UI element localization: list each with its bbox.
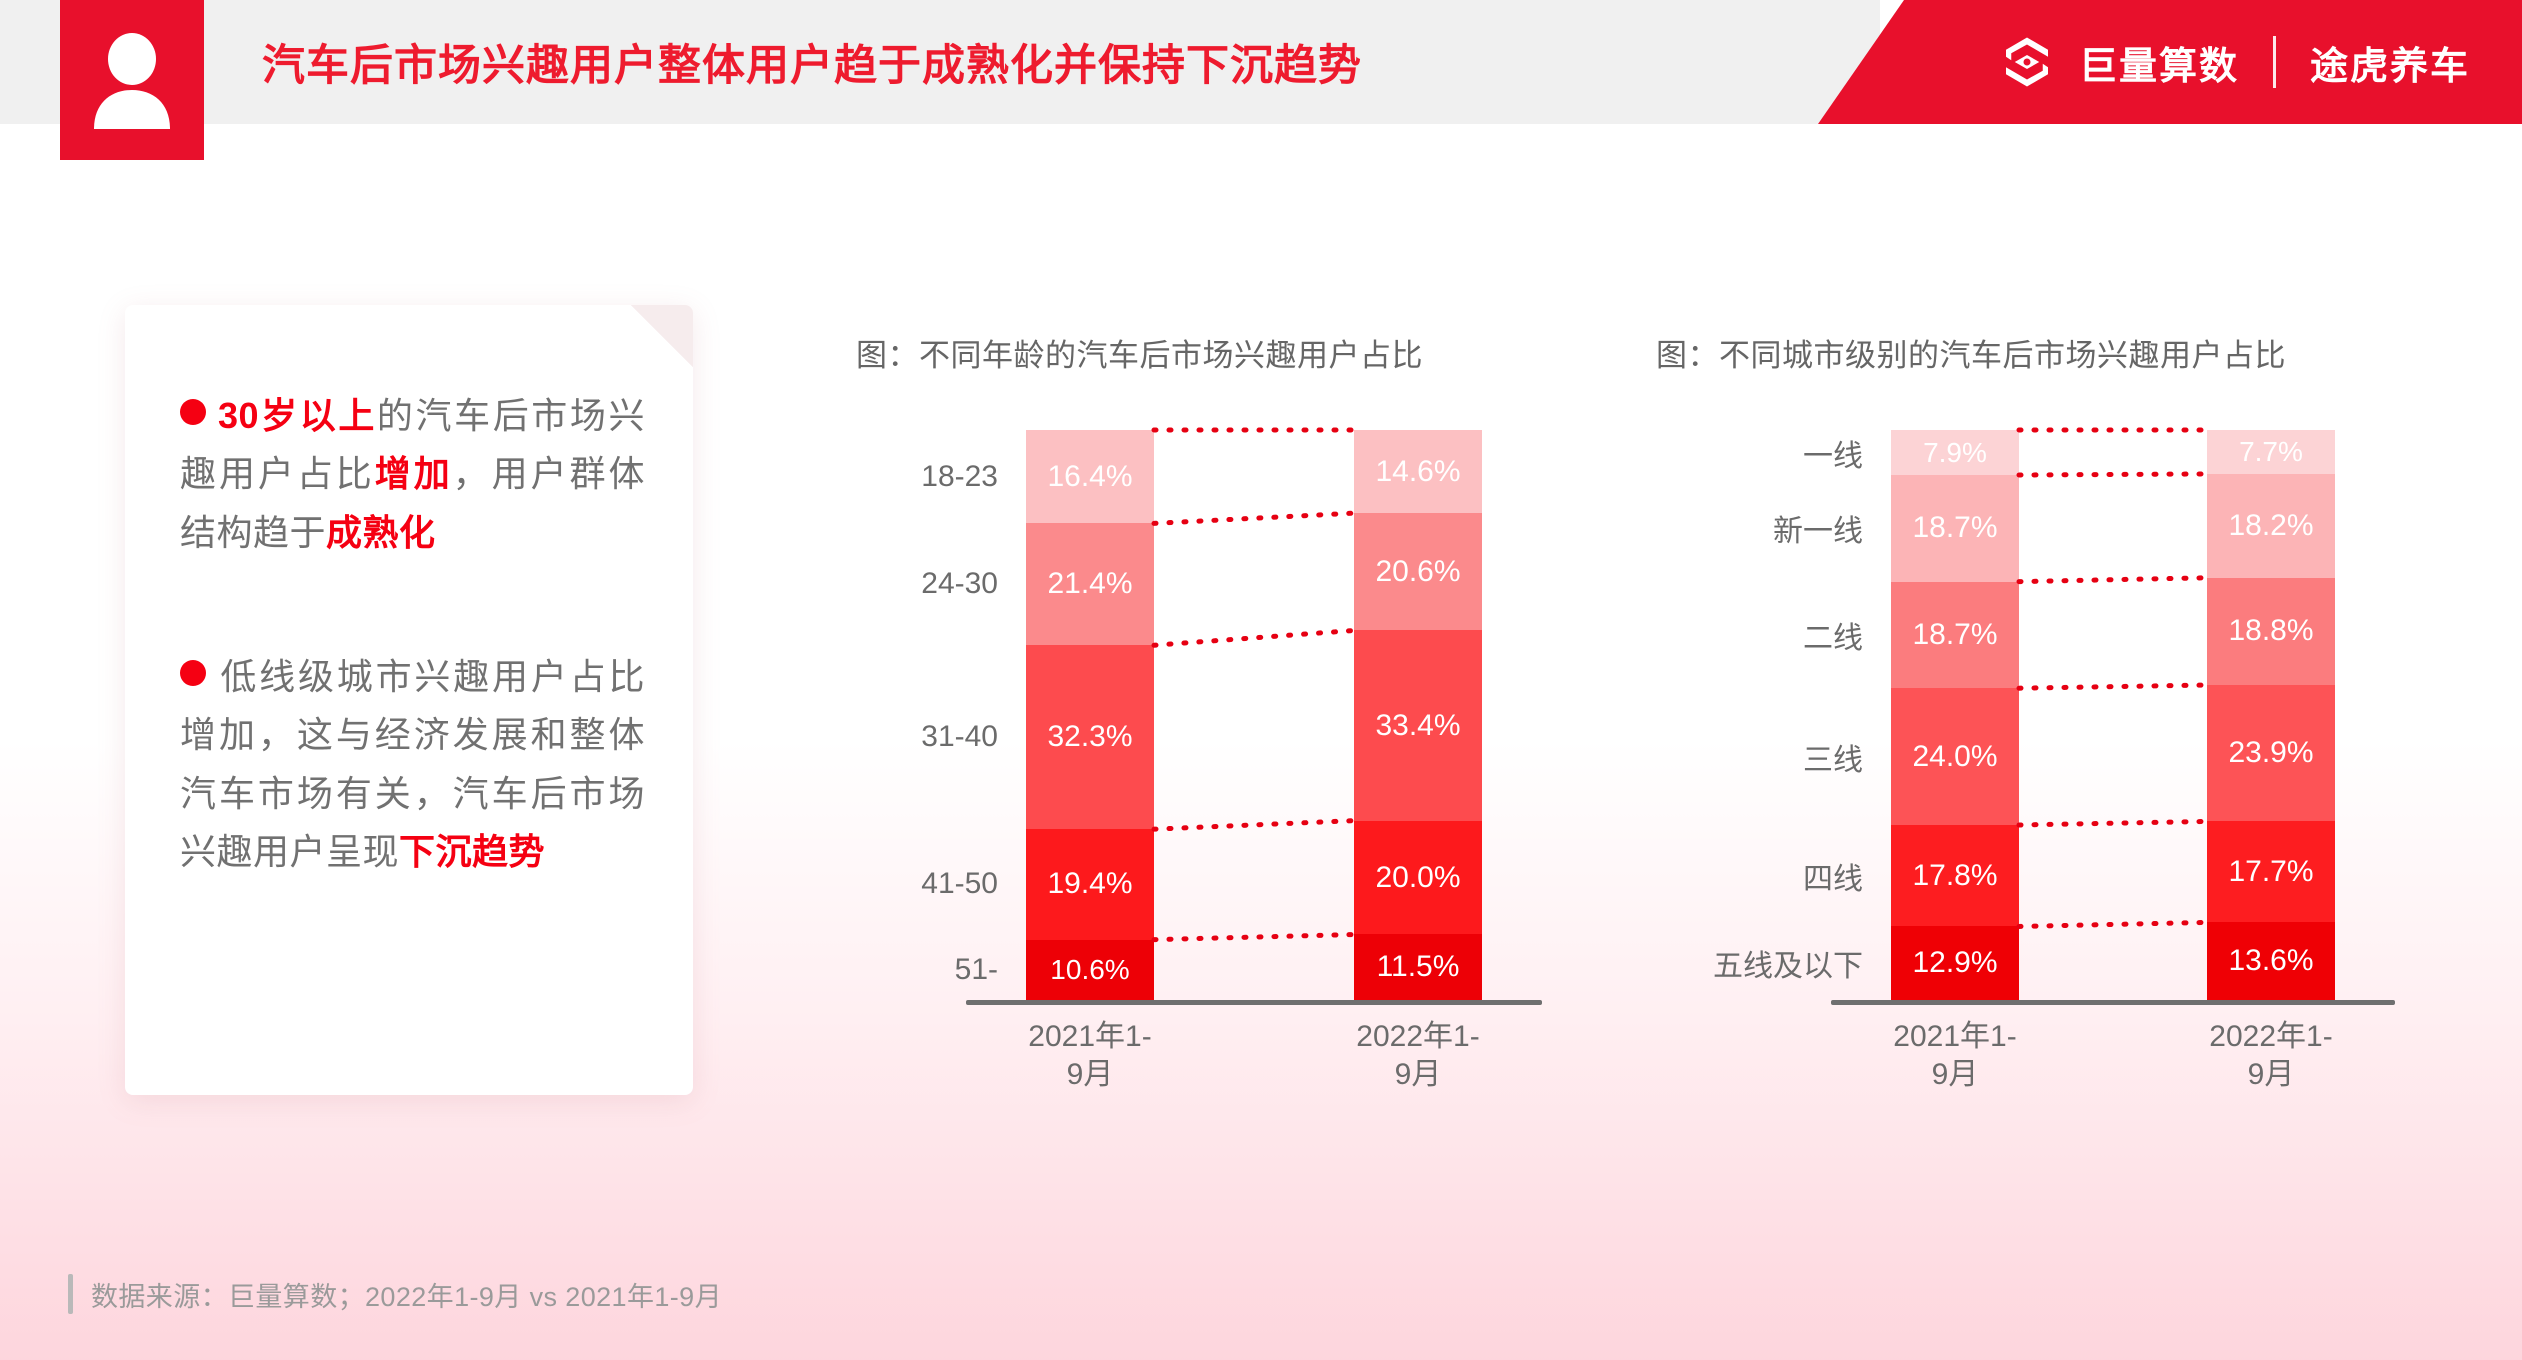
bar-segment: 14.6% [1354,430,1482,513]
chart-plot-area: 16.4%21.4%32.3%19.4%10.6%18-2324-3031-40… [856,430,1476,1030]
footer-accent-bar [68,1274,73,1314]
category-label: 一线 [1688,431,1863,475]
footer-source-text: 数据来源：巨量算数；2022年1-9月 vs 2021年1-9月 [91,1275,722,1314]
bar-segment: 7.7% [2207,430,2335,474]
x-axis-tick: 2021年1-9月 [1851,1018,2059,1095]
x-axis-tick-line: 9月 [2167,1056,2375,1094]
category-label: 二线 [1688,613,1863,657]
brand-name: 巨量算数 [2079,35,2239,90]
x-axis-tick: 2021年1-9月 [986,1018,1194,1095]
bar-segment: 23.9% [2207,685,2335,821]
stacked-bar-column: 14.6%20.6%33.4%20.0%11.5% [1354,430,1482,1000]
chart-axis-line [1831,1000,2395,1005]
bar-segment: 11.5% [1354,934,1482,999]
bar-segment: 20.6% [1354,513,1482,630]
page-title: 汽车后市场兴趣用户整体用户趋于成熟化并保持下沉趋势 [262,0,1362,124]
chart-title: 图：不同城市级别的汽车后市场兴趣用户占比 [1656,330,2286,375]
category-label: 41-50 [888,867,998,901]
category-label: 三线 [1688,735,1863,779]
bar-segment: 17.7% [2207,821,2335,922]
category-label: 五线及以下 [1688,941,1863,985]
insight-card-body: 30岁以上的汽车后市场兴趣用户占比增加，用户群体结构趋于成熟化 低线级城市兴趣用… [180,387,645,881]
x-axis-tick: 2022年1-9月 [1314,1018,1522,1095]
brand-lockup: 巨量算数 途虎养车 [1999,0,2470,124]
category-label: 31-40 [888,720,998,754]
bar-segment: 10.6% [1026,940,1154,1000]
x-axis-tick-line: 9月 [1314,1056,1522,1094]
x-axis-tick-line: 2021年1- [1851,1018,2059,1056]
stacked-bar-column: 7.9%18.7%18.7%24.0%17.8%12.9% [1891,430,2019,1000]
bar-segment: 21.4% [1026,523,1154,645]
x-axis-tick-line: 9月 [1851,1056,2059,1094]
bar-segment: 18.7% [1891,582,2019,689]
insight-runs-1: 30岁以上的汽车后市场兴趣用户占比增加，用户群体结构趋于成熟化 [180,395,645,553]
bar-segment: 24.0% [1891,688,2019,825]
red-dot-bullet-icon [180,399,206,425]
brand-separator [2273,36,2276,88]
bar-segment: 13.6% [2207,922,2335,1000]
x-axis-tick: 2022年1-9月 [2167,1018,2375,1095]
bar-segment: 32.3% [1026,645,1154,829]
category-label: 四线 [1688,854,1863,898]
category-label: 18-23 [888,460,998,494]
bar-segment: 16.4% [1026,430,1154,523]
bar-segment: 12.9% [1891,926,2019,1000]
insight-highlight-text: 30岁以上 [218,395,377,436]
partner-name: 途虎养车 [2310,35,2470,90]
bar-segment: 18.2% [2207,474,2335,578]
insight-paragraph-2: 低线级城市兴趣用户占比增加，这与经济发展和整体汽车市场有关，汽车后市场兴趣用户呈… [180,648,645,881]
chart-axis-line [966,1000,1542,1005]
x-axis-tick-line: 2022年1- [1314,1018,1522,1056]
bar-segment: 18.7% [1891,475,2019,582]
insight-highlight-text: 增加 [375,453,453,494]
insight-highlight-text: 成熟化 [326,512,436,553]
insight-highlight-text: 下沉趋势 [399,831,545,872]
x-axis-tick-line: 2022年1- [2167,1018,2375,1056]
insight-paragraph-1: 30岁以上的汽车后市场兴趣用户占比增加，用户群体结构趋于成熟化 [180,387,645,562]
stacked-bar-column: 16.4%21.4%32.3%19.4%10.6% [1026,430,1154,1000]
category-label: 51- [888,953,998,987]
bar-segment: 7.9% [1891,430,2019,475]
user-person-icon [60,0,204,160]
red-dot-bullet-icon [180,660,206,686]
x-axis-tick-line: 9月 [986,1056,1194,1094]
bar-segment: 33.4% [1354,630,1482,820]
x-axis-tick-line: 2021年1- [986,1018,1194,1056]
insight-card: 30岁以上的汽车后市场兴趣用户占比增加，用户群体结构趋于成熟化 低线级城市兴趣用… [125,305,693,1095]
bar-segment: 17.8% [1891,825,2019,926]
category-label: 新一线 [1688,506,1863,550]
insight-runs-2: 低线级城市兴趣用户占比增加，这与经济发展和整体汽车市场有关，汽车后市场兴趣用户呈… [180,656,645,872]
stacked-bar-column: 7.7%18.2%18.8%23.9%17.7%13.6% [2207,430,2335,1000]
bar-segment: 19.4% [1026,829,1154,939]
category-label: 24-30 [888,567,998,601]
page-header: 汽车后市场兴趣用户整体用户趋于成熟化并保持下沉趋势 巨量算数 途虎养车 [0,0,2522,124]
chart-title: 图：不同年龄的汽车后市场兴趣用户占比 [856,330,1423,375]
chart-plot-area: 7.9%18.7%18.7%24.0%17.8%12.9%一线新一线二线三线四线… [1656,430,2286,1030]
bar-segment: 20.0% [1354,821,1482,935]
bar-segment: 18.8% [2207,578,2335,685]
juliang-hexagon-logo-icon [1999,34,2055,90]
footer-source: 数据来源：巨量算数；2022年1-9月 vs 2021年1-9月 [68,1274,722,1314]
